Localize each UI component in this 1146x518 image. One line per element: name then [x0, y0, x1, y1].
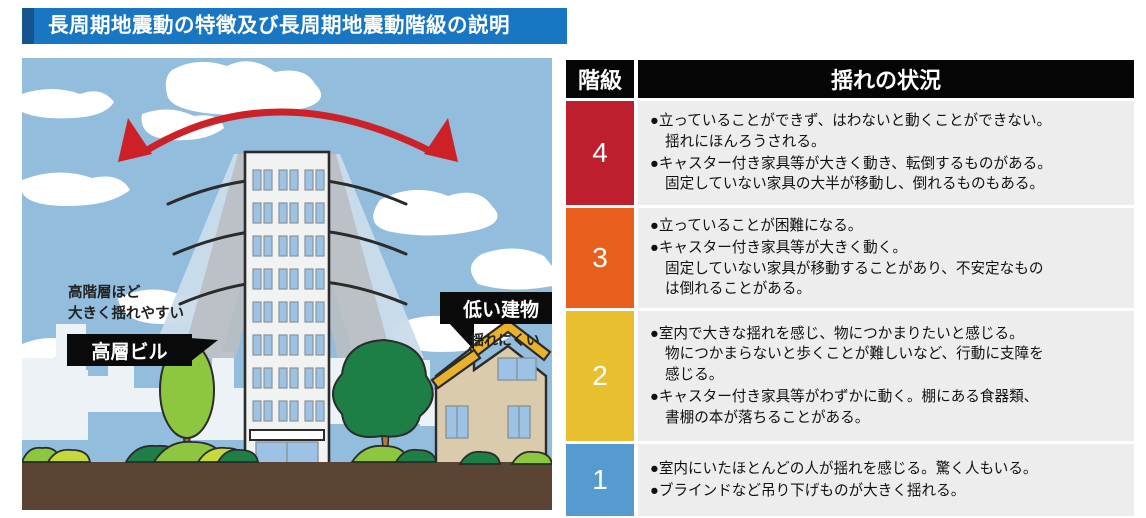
bullet-continuation: は倒れることがある。 [665, 279, 1124, 300]
class-number-cell: 4 [566, 101, 634, 205]
callout-highrise: 高層ビル [67, 334, 192, 366]
table-row: 2●室内で大きな揺れを感じ、物につかまりたいと感じる。物につかまらないと歩くこと… [566, 311, 1134, 441]
callout-low-building-label: 低い建物 [463, 295, 539, 322]
bullet-continuation: 固定していない家具の大半が移動し、倒れるものもある。 [665, 174, 1124, 195]
description-cell: ●室内にいたほとんどの人が揺れを感じる。驚く人もいる。●ブラインドなど吊り下げも… [638, 444, 1134, 516]
bullet-item: ●立っていることができず、はわないと動くことができない。揺れにほんろうされる。 [650, 111, 1124, 152]
callout-low-building: 低い建物 [440, 292, 552, 324]
bullet-continuation: 物につかまらないと歩くことが難しいなど、行動に支障を [665, 344, 1124, 365]
bullet-item: ●室内で大きな揺れを感じ、物につかまりたいと感じる。物につかまらないと歩くことが… [650, 324, 1124, 386]
table-row: 1●室内にいたほとんどの人が揺れを感じる。驚く人もいる。●ブラインドなど吊り下げ… [566, 444, 1134, 516]
bullet-continuation: 書棚の本が落ちることがある。 [665, 408, 1124, 429]
earthquake-illustration: 高階層ほど 大きく揺れやすい 高層ビル 低い建物 揺れにくい 低い建物でも免震構… [22, 58, 552, 510]
bullet-item: ●キャスター付き家具等がわずかに動く。棚にある食器類、書棚の本が落ちることがある… [650, 387, 1124, 428]
description-cell: ●立っていることができず、はわないと動くことができない。揺れにほんろうされる。●… [638, 101, 1134, 205]
table-body: 4●立っていることができず、はわないと動くことができない。揺れにほんろうされる。… [566, 101, 1134, 516]
bullet-continuation: 揺れにほんろうされる。 [665, 132, 1124, 153]
description-cell: ●立っていることが困難になる。●キャスター付き家具等が大きく動く。固定していない… [638, 208, 1134, 308]
page-title-bar: 長周期地震動の特徴及び長周期地震動階級の説明 [22, 8, 567, 44]
table-row: 3●立っていることが困難になる。●キャスター付き家具等が大きく動く。固定していな… [566, 208, 1134, 308]
callout-highrise-label: 高層ビル [91, 337, 167, 364]
description-cell: ●室内で大きな揺れを感じ、物につかまりたいと感じる。物につかまらないと歩くことが… [638, 311, 1134, 441]
column-header-description: 揺れの状況 [638, 60, 1134, 98]
bullet-item: ●キャスター付き家具等が大きく動く。固定していない家具が移動することがあり、不安… [650, 238, 1124, 300]
bullet-item: ●キャスター付き家具等が大きく動き、転倒するものがある。固定していない家具の大半… [650, 154, 1124, 195]
bullet-item: ●立っていることが困難になる。 [650, 216, 1124, 237]
page-title: 長周期地震動の特徴及び長周期地震動階級の説明 [34, 8, 510, 44]
class-number-cell: 2 [566, 311, 634, 441]
bullet-continuation: 感じる。 [665, 365, 1124, 386]
class-number-cell: 3 [566, 208, 634, 308]
title-accent-block [22, 8, 34, 44]
column-header-class: 階級 [566, 60, 634, 98]
callout-tail-icon [190, 338, 218, 362]
high-rise-building [245, 152, 329, 468]
label-hard-to-shake: 揺れにくい [470, 330, 540, 350]
bullet-continuation: 固定していない家具が移動することがあり、不安定なもの [665, 259, 1124, 280]
infographic-page: 長周期地震動の特徴及び長周期地震動階級の説明 [0, 0, 1146, 518]
label-high-floor-line1: 高階層ほど [68, 283, 184, 304]
class-number-cell: 1 [566, 444, 634, 516]
bullet-item: ●室内にいたほとんどの人が揺れを感じる。驚く人もいる。 [650, 459, 1124, 480]
ground [22, 462, 552, 510]
label-high-floor-line2: 大きく揺れやすい [68, 304, 184, 325]
label-high-floor: 高階層ほど 大きく揺れやすい [68, 283, 184, 325]
table-row: 4●立っていることができず、はわないと動くことができない。揺れにほんろうされる。… [566, 101, 1134, 205]
table-header-row: 階級 揺れの状況 [566, 60, 1134, 98]
intensity-class-table: 階級 揺れの状況 4●立っていることができず、はわないと動くことができない。揺れ… [566, 60, 1134, 510]
bullet-item: ●ブラインドなど吊り下げものが大きく揺れる。 [650, 481, 1124, 502]
